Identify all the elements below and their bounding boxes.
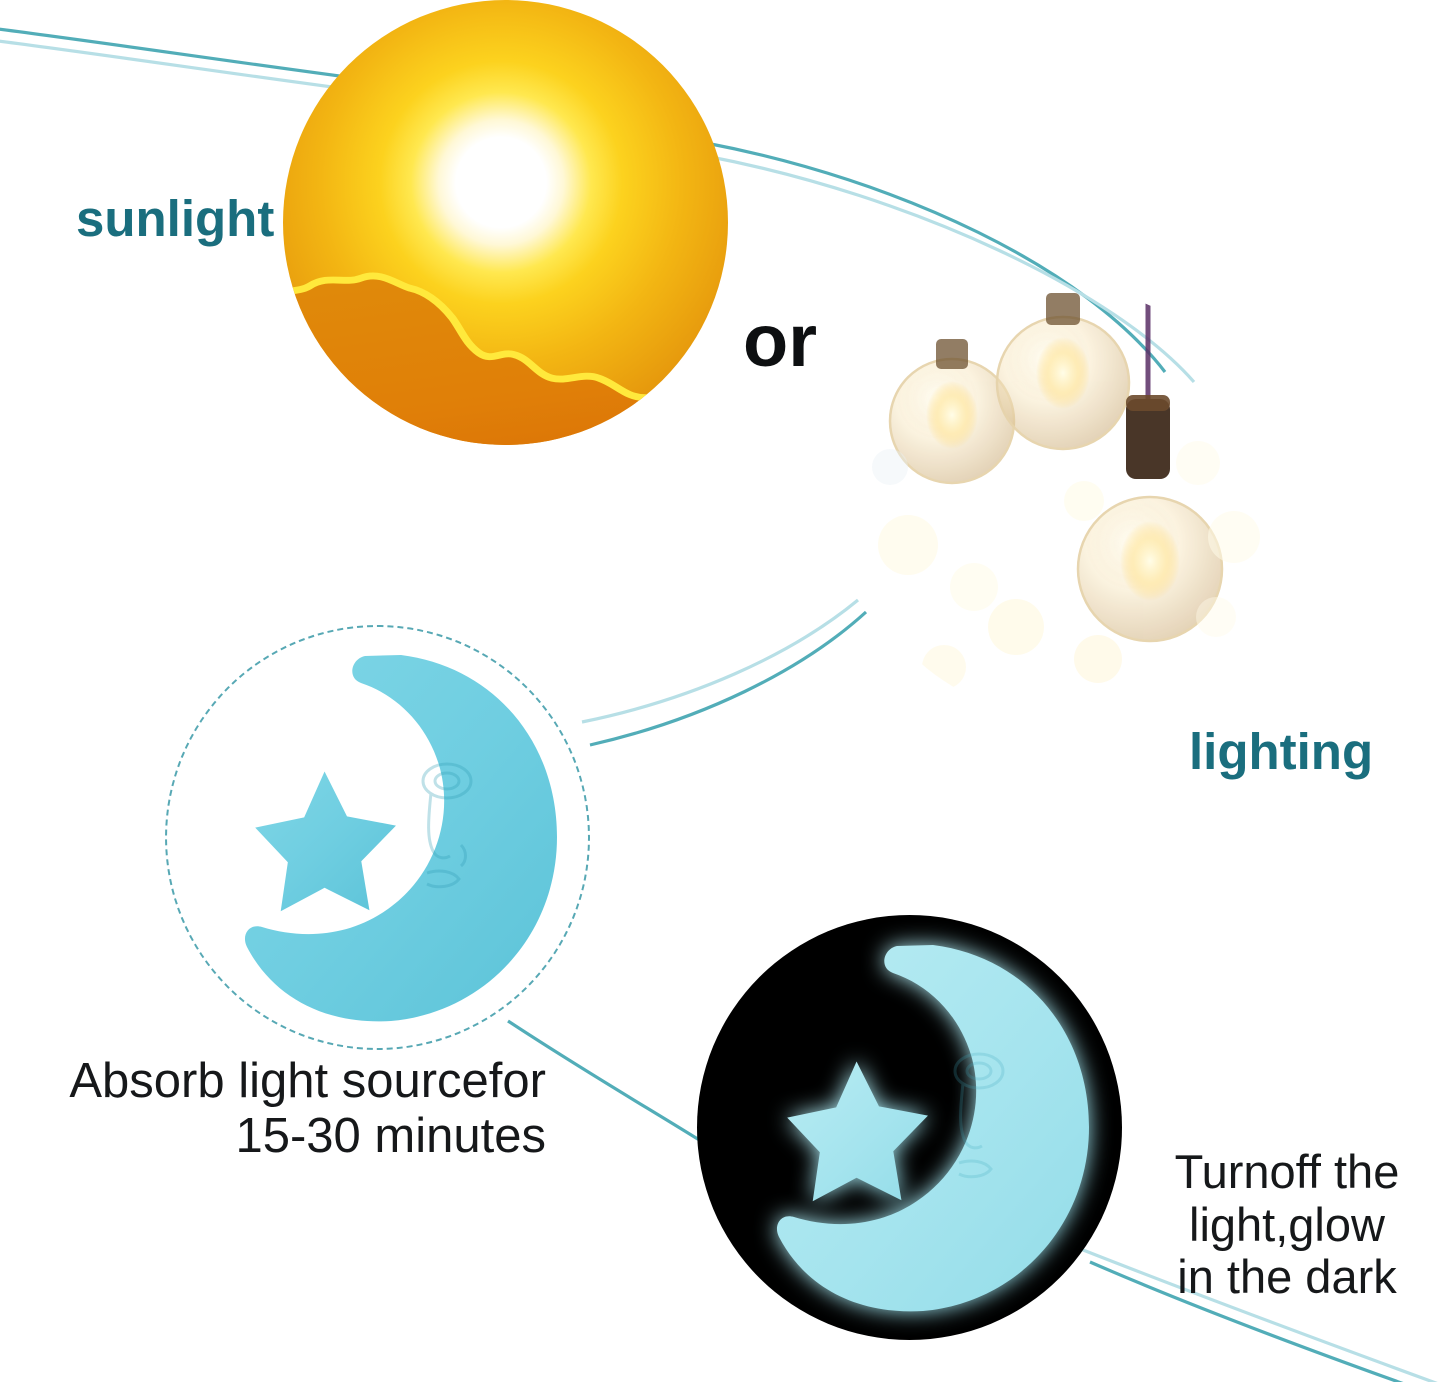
connector-moon-to-lighting-light xyxy=(582,600,858,722)
star-shape xyxy=(255,772,396,912)
sunlight-label: sunlight xyxy=(76,190,274,247)
moon-star-glowing xyxy=(697,915,1122,1340)
or-label: or xyxy=(743,300,817,383)
turnoff-light-caption: Turnoff the light,glow in the dark xyxy=(1146,1146,1428,1304)
cloud-silhouette-icon xyxy=(283,245,728,445)
lighting-bulbs-illustration xyxy=(848,287,1278,717)
infographic-canvas: sunlight or lighting Absorb light source… xyxy=(0,0,1445,1382)
sun-disc xyxy=(283,0,728,445)
moon-star-cyan xyxy=(165,625,590,1050)
connector-moon-to-lighting xyxy=(590,612,866,745)
moon-star-cyan-shape xyxy=(165,625,590,1050)
lighting-photo-circle xyxy=(848,287,1278,717)
moon-star-glow-shape xyxy=(697,915,1122,1340)
sun-circle xyxy=(283,0,728,445)
lighting-label: lighting xyxy=(1189,723,1373,780)
absorb-light-caption: Absorb light sourcefor 15-30 minutes xyxy=(36,1054,546,1164)
glow-star xyxy=(787,1062,928,1202)
